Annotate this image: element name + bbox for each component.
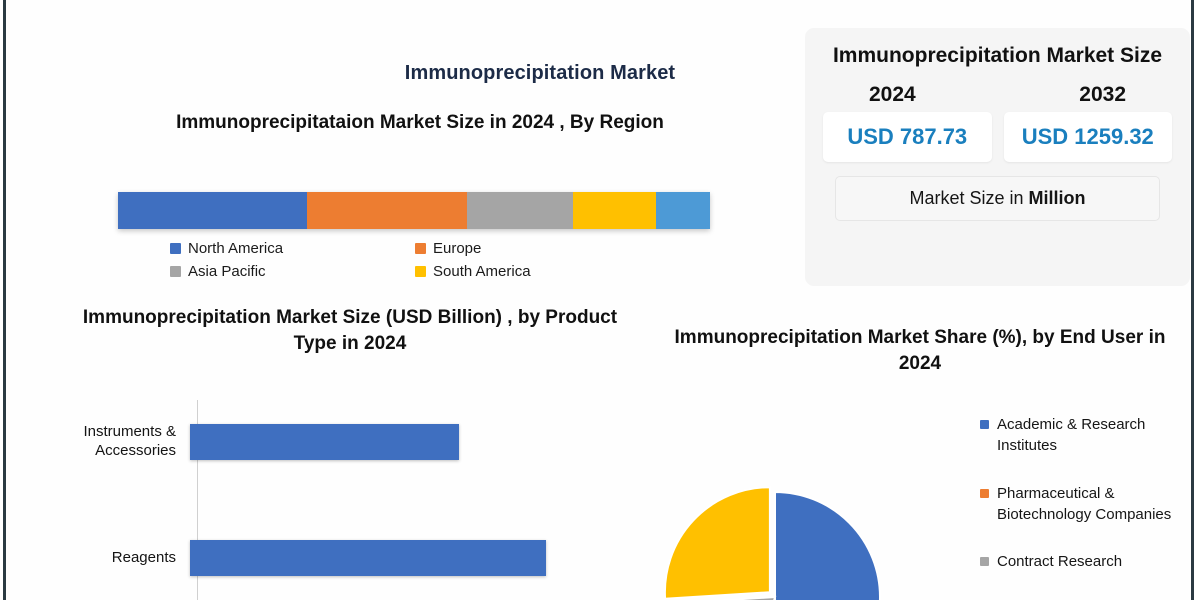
legend-item-label: Academic & Research Institutes bbox=[997, 414, 1195, 457]
year-label-forecast: 2032 bbox=[1079, 83, 1126, 107]
enduser-chart-section: Immunoprecipitation Market Share (%), by… bbox=[660, 325, 1190, 377]
product-bar-track bbox=[190, 424, 600, 460]
legend-item-pharmaceutical: Pharmaceutical & Biotechnology Companies bbox=[980, 483, 1195, 526]
market-size-unit-note: Market Size in Million bbox=[835, 176, 1160, 221]
enduser-chart-legend: Academic & Research Institutes Pharmaceu… bbox=[980, 414, 1195, 572]
legend-swatch-icon bbox=[980, 420, 989, 429]
legend-swatch-icon bbox=[415, 266, 426, 277]
legend-item-label: South America bbox=[433, 263, 531, 280]
market-size-values-row: USD 787.73 USD 1259.32 bbox=[823, 112, 1172, 162]
legend-item-contract-research: Contract Research bbox=[980, 551, 1195, 572]
market-size-unit-prefix: Market Size in bbox=[909, 188, 1028, 208]
region-segment-europe bbox=[307, 192, 467, 229]
market-value-forecast: USD 1259.32 bbox=[1004, 112, 1173, 162]
region-chart-legend: North America Europe Asia Pacific South … bbox=[170, 240, 650, 280]
legend-item-label: Asia Pacific bbox=[188, 263, 266, 280]
legend-swatch-icon bbox=[415, 243, 426, 254]
pie-slice-academic bbox=[775, 492, 880, 600]
product-bar-reagents bbox=[190, 540, 546, 576]
region-segment-south-america bbox=[573, 192, 655, 229]
legend-swatch-icon bbox=[980, 557, 989, 566]
legend-item-europe: Europe bbox=[415, 240, 650, 257]
region-segment-middle-east-africa bbox=[656, 192, 710, 229]
product-bar-track bbox=[190, 540, 600, 576]
table-row: Reagents bbox=[40, 540, 600, 576]
market-size-years-row: 2024 2032 bbox=[823, 83, 1172, 107]
market-size-card-title: Immunoprecipitation Market Size bbox=[823, 42, 1172, 70]
region-chart-section: Immunoprecipitataion Market Size in 2024… bbox=[80, 110, 760, 136]
legend-item-south-america: South America bbox=[415, 263, 650, 280]
enduser-chart-title: Immunoprecipitation Market Share (%), by… bbox=[660, 325, 1180, 377]
page-title: Immunoprecipitation Market bbox=[300, 62, 780, 85]
enduser-pie-chart bbox=[655, 447, 895, 600]
region-stacked-bar bbox=[118, 192, 710, 229]
legend-item-academic: Academic & Research Institutes bbox=[980, 414, 1195, 457]
product-category-label: Reagents bbox=[40, 549, 190, 568]
legend-item-label: Europe bbox=[433, 240, 481, 257]
table-row: Instruments & Accessories bbox=[40, 424, 600, 460]
year-label-base: 2024 bbox=[869, 83, 916, 107]
legend-swatch-icon bbox=[170, 266, 181, 277]
product-chart-section: Immunoprecipitation Market Size (USD Bil… bbox=[40, 305, 660, 357]
product-bar-instruments bbox=[190, 424, 459, 460]
legend-item-label: Pharmaceutical & Biotechnology Companies bbox=[997, 483, 1195, 526]
product-category-label: Instruments & Accessories bbox=[40, 423, 190, 461]
legend-item-label: North America bbox=[188, 240, 283, 257]
infographic-canvas: Immunoprecipitation Market Immunoprecipi… bbox=[0, 0, 1200, 600]
region-chart-title: Immunoprecipitataion Market Size in 2024… bbox=[100, 110, 740, 136]
market-size-card: Immunoprecipitation Market Size 2024 203… bbox=[805, 28, 1190, 286]
region-segment-north-america bbox=[118, 192, 307, 229]
pie-slice-other bbox=[665, 487, 770, 599]
legend-item-asia-pacific: Asia Pacific bbox=[170, 263, 405, 280]
left-edge-rule bbox=[3, 0, 6, 600]
market-size-unit-value: Million bbox=[1029, 188, 1086, 208]
legend-swatch-icon bbox=[980, 489, 989, 498]
product-bar-chart-plot: Instruments & Accessories Reagents bbox=[40, 400, 600, 600]
pie-chart-svg bbox=[655, 447, 895, 600]
region-segment-asia-pacific bbox=[467, 192, 573, 229]
product-chart-title: Immunoprecipitation Market Size (USD Bil… bbox=[80, 305, 620, 357]
market-value-base: USD 787.73 bbox=[823, 112, 992, 162]
legend-swatch-icon bbox=[170, 243, 181, 254]
legend-item-north-america: North America bbox=[170, 240, 405, 257]
legend-item-label: Contract Research bbox=[997, 551, 1122, 572]
